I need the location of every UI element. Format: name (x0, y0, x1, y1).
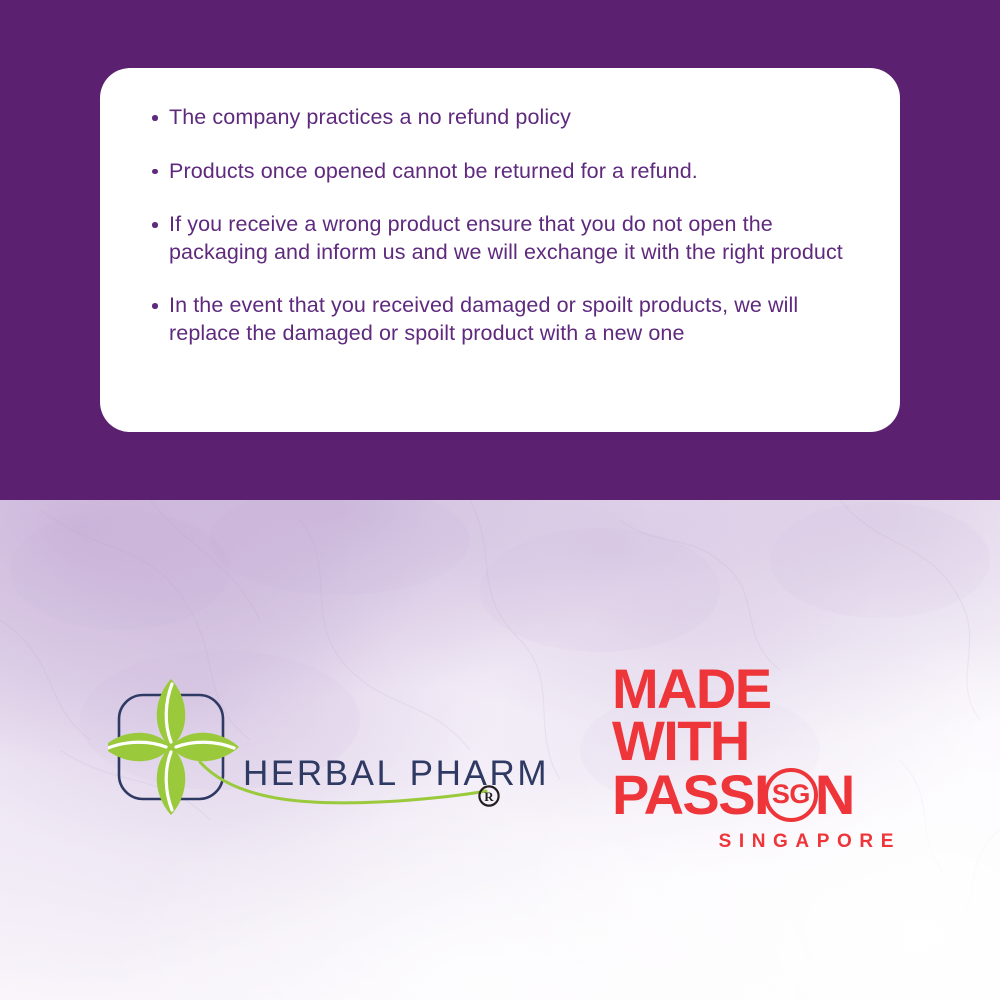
herbal-pharm-mark-icon: R (108, 676, 508, 824)
mwp-passion-row: PASSISGN (612, 768, 854, 822)
sg-badge-icon: SG (764, 768, 818, 822)
policy-bullet-item: In the event that you received damaged o… (150, 292, 848, 347)
mwp-passion-text-before: PASSI (612, 763, 768, 826)
made-with-passion-logo: MADE WITH PASSISGN SINGAPORE (612, 663, 902, 853)
poster-canvas: The company practices a no refund policy… (0, 0, 1000, 1000)
mwp-line-with: WITH (612, 715, 902, 767)
herbal-pharm-logo: R (108, 676, 508, 824)
mwp-country-label: SINGAPORE (612, 831, 902, 853)
policy-bullet-item: If you receive a wrong product ensure th… (150, 211, 848, 266)
policy-bullet-item: The company practices a no refund policy (150, 104, 848, 132)
policy-bullet-list: The company practices a no refund policy… (150, 104, 848, 347)
mwp-passion-text-after: N (815, 763, 854, 826)
sg-badge-label: SG (764, 768, 818, 822)
herbal-pharm-wordmark: HERBAL PHARM (243, 754, 549, 794)
refund-policy-card: The company practices a no refund policy… (100, 68, 900, 432)
mwp-line-passion: PASSISGN (612, 768, 902, 822)
mwp-line-made: MADE (612, 663, 902, 715)
policy-bullet-item: Products once opened cannot be returned … (150, 158, 848, 186)
